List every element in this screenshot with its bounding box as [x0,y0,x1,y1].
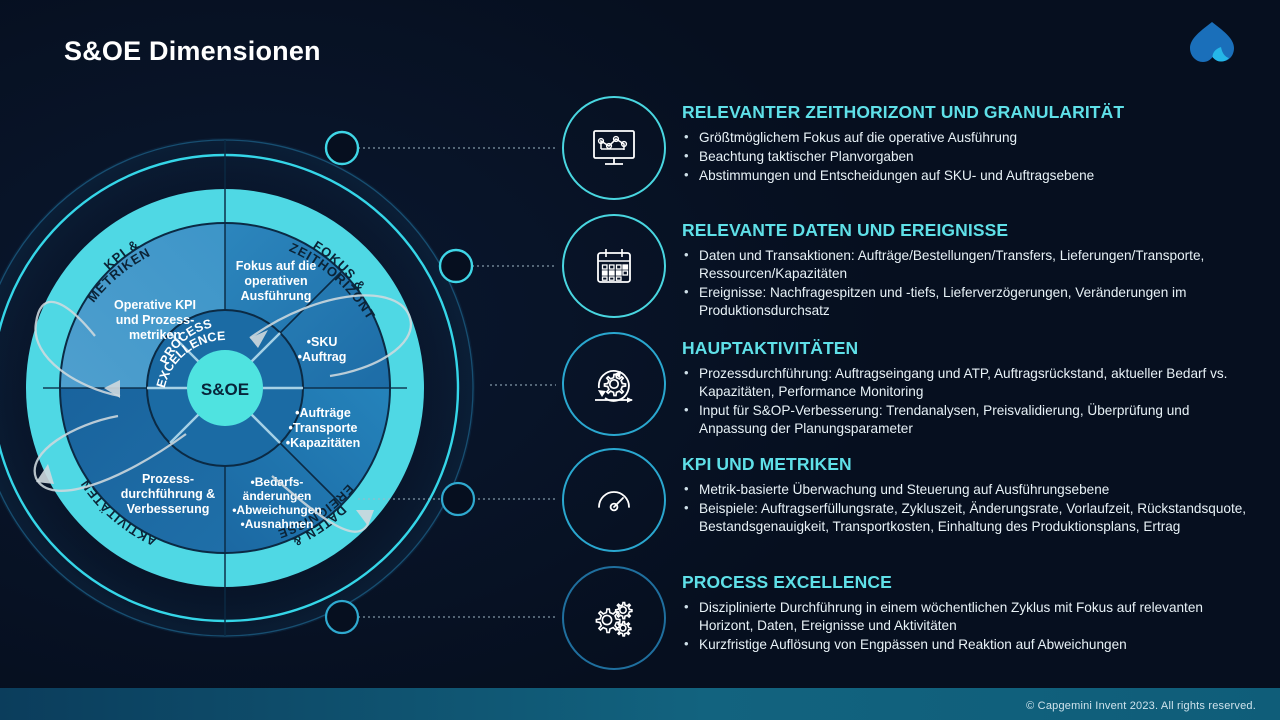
section-bullets: Prozessdurchführung: Auftragseingang und… [682,365,1252,438]
gauge-icon [587,473,641,527]
section-title: RELEVANTER ZEITHORIZONT UND GRANULARITÄT [682,102,1252,123]
svg-text:Fokus auf die: Fokus auf die [236,259,317,273]
section-bullets: Größtmöglichem Fokus auf die operative A… [682,129,1252,185]
svg-text:Ausführung: Ausführung [241,289,312,303]
core-label: S&OE [201,380,249,399]
svg-text:Verbesserung: Verbesserung [127,502,210,516]
section-bullets: Metrik-basierte Überwachung und Steuerun… [682,481,1252,536]
s-and-oe-wheel-diagram: S&OE PROCESS EXCELLENCE FOKUS & ZEITHORI… [0,78,560,658]
monitor-chart-icon [588,122,640,174]
svg-text:•Ausnahmen: •Ausnahmen [241,517,314,531]
section-bullets: Daten und Transaktionen: Aufträge/Bestel… [682,247,1252,320]
capgemini-invent-logo [1184,18,1240,70]
gear-cycle-icon [587,357,641,411]
bullet-item: Abstimmungen und Entscheidungen auf SKU-… [682,167,1252,185]
slide-root: S&OE Dimensionen [0,0,1280,720]
bullet-item: Ereignisse: Nachfragespitzen und -tiefs,… [682,284,1252,320]
section-title: PROCESS EXCELLENCE [682,572,1252,593]
calendar-icon [588,240,640,292]
section-title: RELEVANTE DATEN UND EREIGNISSE [682,220,1252,241]
bullet-item: Daten und Transaktionen: Aufträge/Bestel… [682,247,1252,283]
svg-text:metriken: metriken [129,328,181,342]
svg-text:•Auftrag: •Auftrag [298,350,347,364]
section-bullets: Disziplinierte Durchführung in einem wöc… [682,599,1252,654]
bullet-item: Kurzfristige Auflösung von Engpässen und… [682,636,1252,654]
page-title: S&OE Dimensionen [64,36,321,67]
gears-icon [587,591,641,645]
segment-fokus-text: Fokus auf die operativen Ausführung [236,259,317,303]
footer-copyright: © Capgemini Invent 2023. All rights rese… [1026,700,1256,712]
gears-icon-wrapper[interactable] [562,566,666,670]
svg-text:•Aufträge: •Aufträge [295,406,351,420]
svg-text:und Prozess-: und Prozess- [116,313,195,327]
section-body: KPI UND METRIKEN Metrik-basierte Überwac… [682,454,1252,537]
svg-text:•Kapazitäten: •Kapazitäten [286,436,361,450]
section-body: PROCESS EXCELLENCE Disziplinierte Durchf… [682,572,1252,655]
bullet-item: Metrik-basierte Überwachung und Steuerun… [682,481,1252,499]
monitor-chart-icon-wrapper[interactable] [562,96,666,200]
bullet-item: Beispiele: Auftragserfüllungsrate, Zyklu… [682,500,1252,536]
section-body: RELEVANTE DATEN UND EREIGNISSE Daten und… [682,220,1252,321]
section-body: HAUPTAKTIVITÄTEN Prozessdurchführung: Au… [682,338,1252,439]
svg-text:•SKU: •SKU [307,335,338,349]
section-title: HAUPTAKTIVITÄTEN [682,338,1252,359]
svg-text:•Transporte: •Transporte [289,421,358,435]
svg-text:•Bedarfs-: •Bedarfs- [251,475,304,489]
gear-cycle-icon-wrapper[interactable] [562,332,666,436]
bullet-item: Disziplinierte Durchführung in einem wöc… [682,599,1252,635]
bullet-item: Größtmöglichem Fokus auf die operative A… [682,129,1252,147]
section-body: RELEVANTER ZEITHORIZONT UND GRANULARITÄT… [682,102,1252,186]
segment-auftraege-text: •Aufträge •Transporte •Kapazitäten [286,406,361,450]
svg-text:Operative KPI: Operative KPI [114,298,196,312]
bullet-item: Prozessdurchführung: Auftragseingang und… [682,365,1252,401]
bullet-item: Input für S&OP-Verbesserung: Trendanalys… [682,402,1252,438]
svg-text:operativen: operativen [244,274,307,288]
gauge-icon-wrapper[interactable] [562,448,666,552]
section-title: KPI UND METRIKEN [682,454,1252,475]
calendar-icon-wrapper[interactable] [562,214,666,318]
bullet-item: Beachtung taktischer Planvorgaben [682,148,1252,166]
svg-text:Prozess-: Prozess- [142,472,194,486]
svg-text:durchführung &: durchführung & [121,487,215,501]
